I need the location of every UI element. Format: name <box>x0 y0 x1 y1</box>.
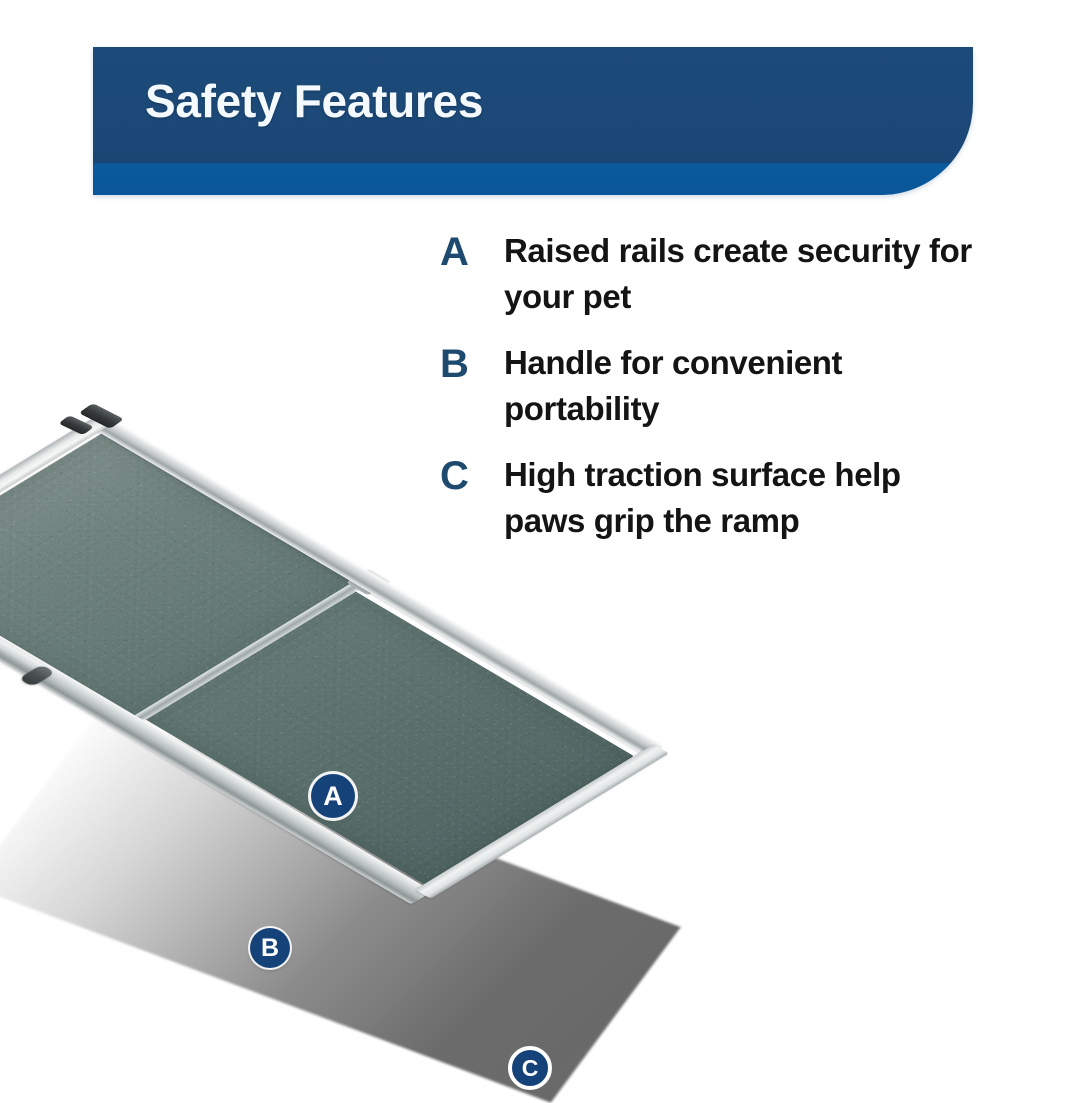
feature-text-a: Raised rails create security for your pe… <box>504 228 980 320</box>
infographic-canvas: Safety Features A Raised rails create se… <box>0 0 1080 1046</box>
header-banner: Safety Features <box>93 47 973 195</box>
callout-badge-b: B <box>250 928 290 968</box>
callout-badge-c: C <box>508 1046 552 1090</box>
feature-letter-a: A <box>440 228 504 276</box>
product-image: A B C <box>60 380 820 980</box>
callout-badge-a: A <box>311 774 355 818</box>
feature-item-a: A Raised rails create security for your … <box>440 228 980 320</box>
page-title: Safety Features <box>145 74 483 128</box>
